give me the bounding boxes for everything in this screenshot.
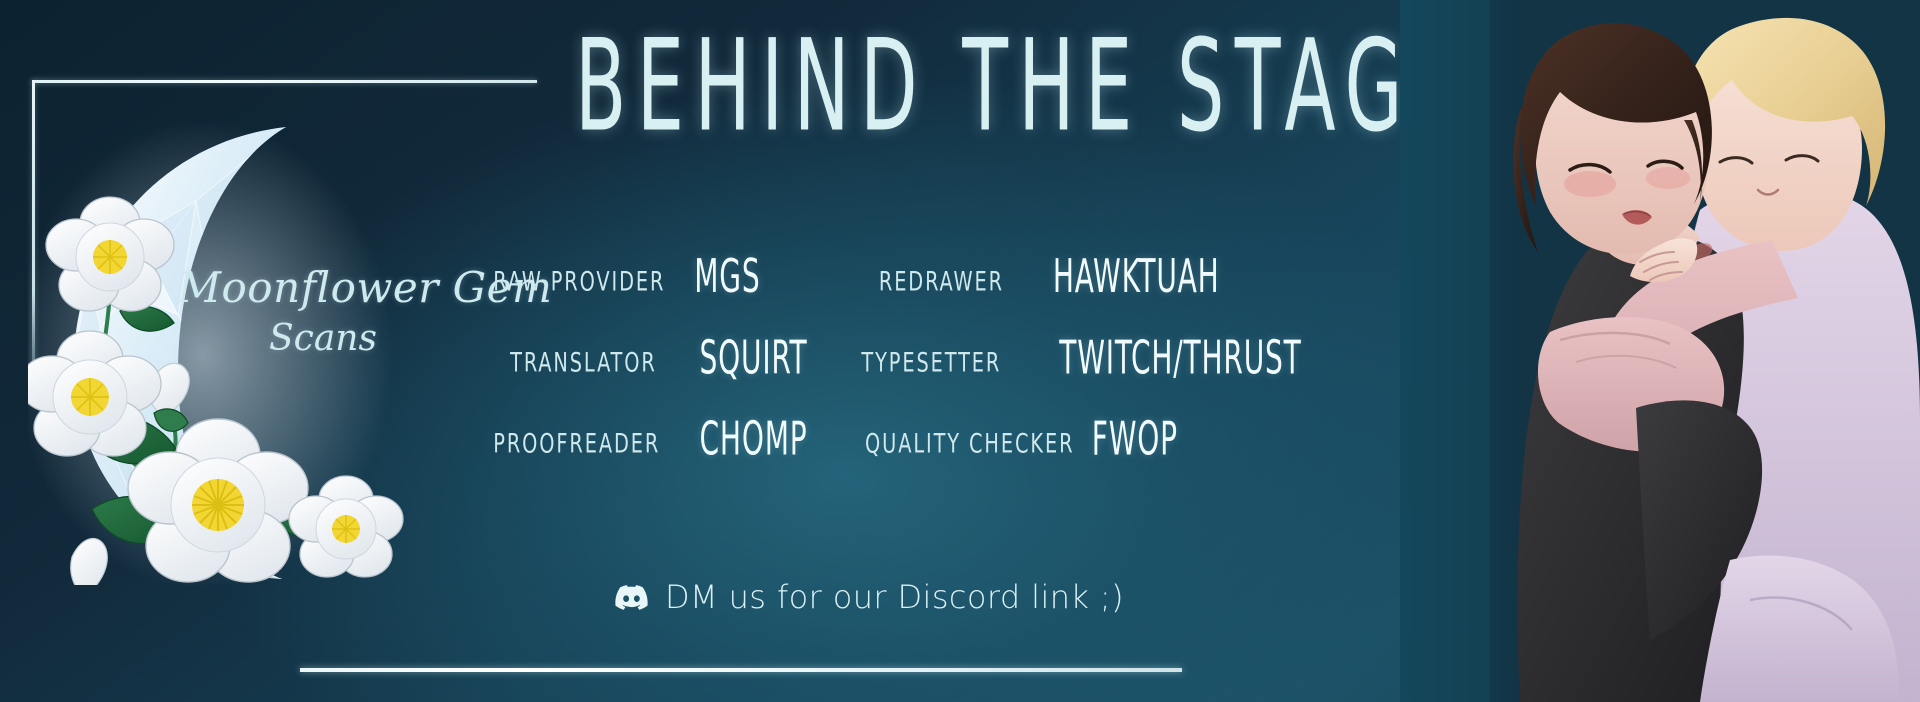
credit-entry: TRANSLATOR SQUIRT <box>480 336 850 381</box>
discord-invite[interactable]: DM us for our Discord link ;) <box>615 578 1124 616</box>
credit-value: SQUIRT <box>699 332 807 385</box>
credit-entry: TYPESETTER TWITCH/THRUST <box>850 336 1240 381</box>
character-illustration <box>1400 0 1920 702</box>
credit-label: TYPESETTER <box>861 347 1001 377</box>
credit-row: RAW PROVIDER MGS REDRAWER HAWKTUAH <box>480 255 1240 300</box>
credits-banner: BEHIND THE STAGE <box>0 0 1920 702</box>
credit-label: PROOFREADER <box>493 428 656 458</box>
page-title: BEHIND THE STAGE <box>575 22 1471 149</box>
frame-top-line <box>32 80 537 83</box>
credit-label: REDRAWER <box>862 266 1004 296</box>
credit-label: QUALITY CHECKER <box>865 428 1050 458</box>
credit-value: TWITCH/THRUST <box>1059 332 1301 385</box>
discord-icon <box>615 585 648 610</box>
bottom-divider <box>300 668 1182 672</box>
crescent-moon-icon <box>28 105 473 585</box>
credit-value: FWOP <box>1092 413 1178 466</box>
credit-value: HAWKTUAH <box>1052 251 1219 304</box>
discord-invite-text: DM us for our Discord link ;) <box>665 578 1124 616</box>
credit-label: TRANSLATOR <box>493 347 656 377</box>
credit-entry: PROOFREADER CHOMP <box>480 417 850 462</box>
credit-value: MGS <box>694 251 760 304</box>
credit-value: CHOMP <box>699 413 807 466</box>
credit-entry: RAW PROVIDER MGS <box>480 255 850 300</box>
credit-row: PROOFREADER CHOMP QUALITY CHECKER FWOP <box>480 417 1240 462</box>
credit-entry: REDRAWER HAWKTUAH <box>850 255 1240 300</box>
credit-row: TRANSLATOR SQUIRT TYPESETTER TWITCH/THRU… <box>480 336 1240 381</box>
credits-list: RAW PROVIDER MGS REDRAWER HAWKTUAH TRANS… <box>480 255 1240 498</box>
credit-entry: QUALITY CHECKER FWOP <box>850 417 1240 462</box>
credit-label: RAW PROVIDER <box>493 266 656 296</box>
moonflower-gem-scans-logo: Moonflower Gem Scans <box>28 105 473 585</box>
cover-artwork <box>1400 0 1920 702</box>
